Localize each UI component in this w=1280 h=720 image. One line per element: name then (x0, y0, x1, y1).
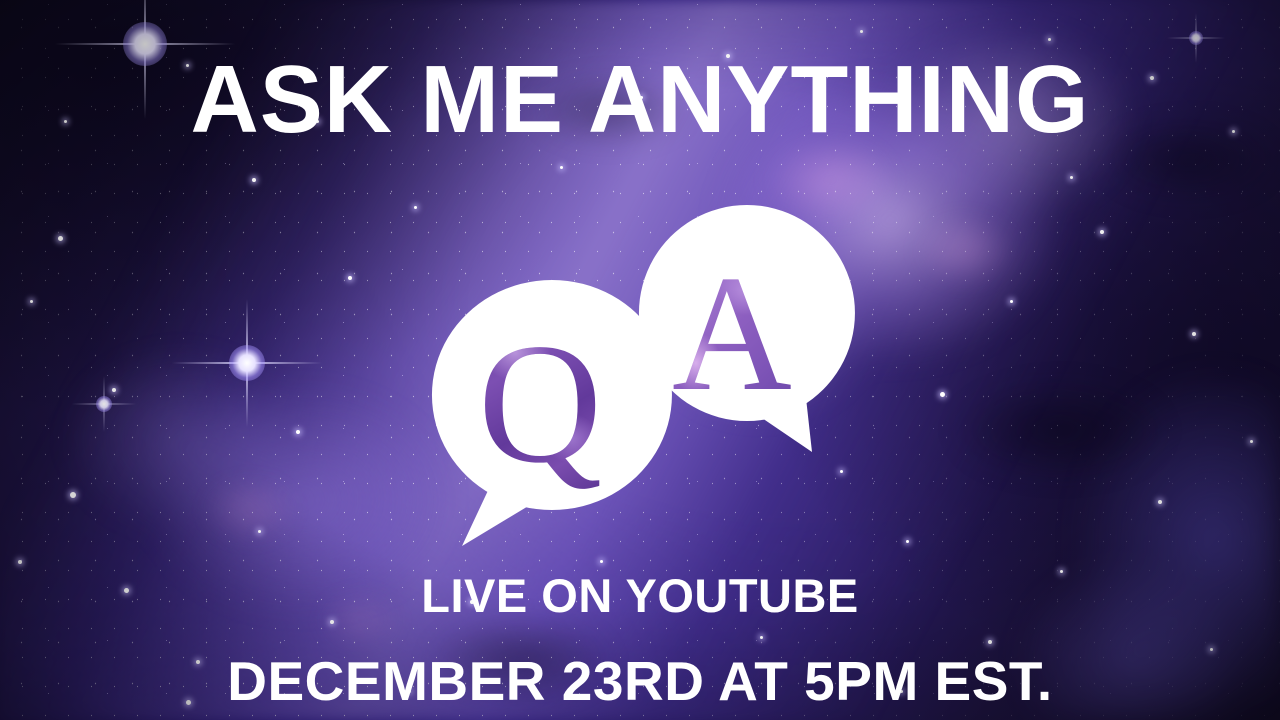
datetime-line: DECEMBER 23RD AT 5PM EST. (0, 654, 1280, 709)
poster-canvas: ASK ME ANYTHING Q A LIVE ON YOUTUBE DECE… (0, 0, 1280, 720)
question-bubble-letter: Q (478, 318, 602, 490)
answer-bubble-letter: A (672, 250, 792, 416)
platform-line: LIVE ON YOUTUBE (0, 572, 1280, 619)
